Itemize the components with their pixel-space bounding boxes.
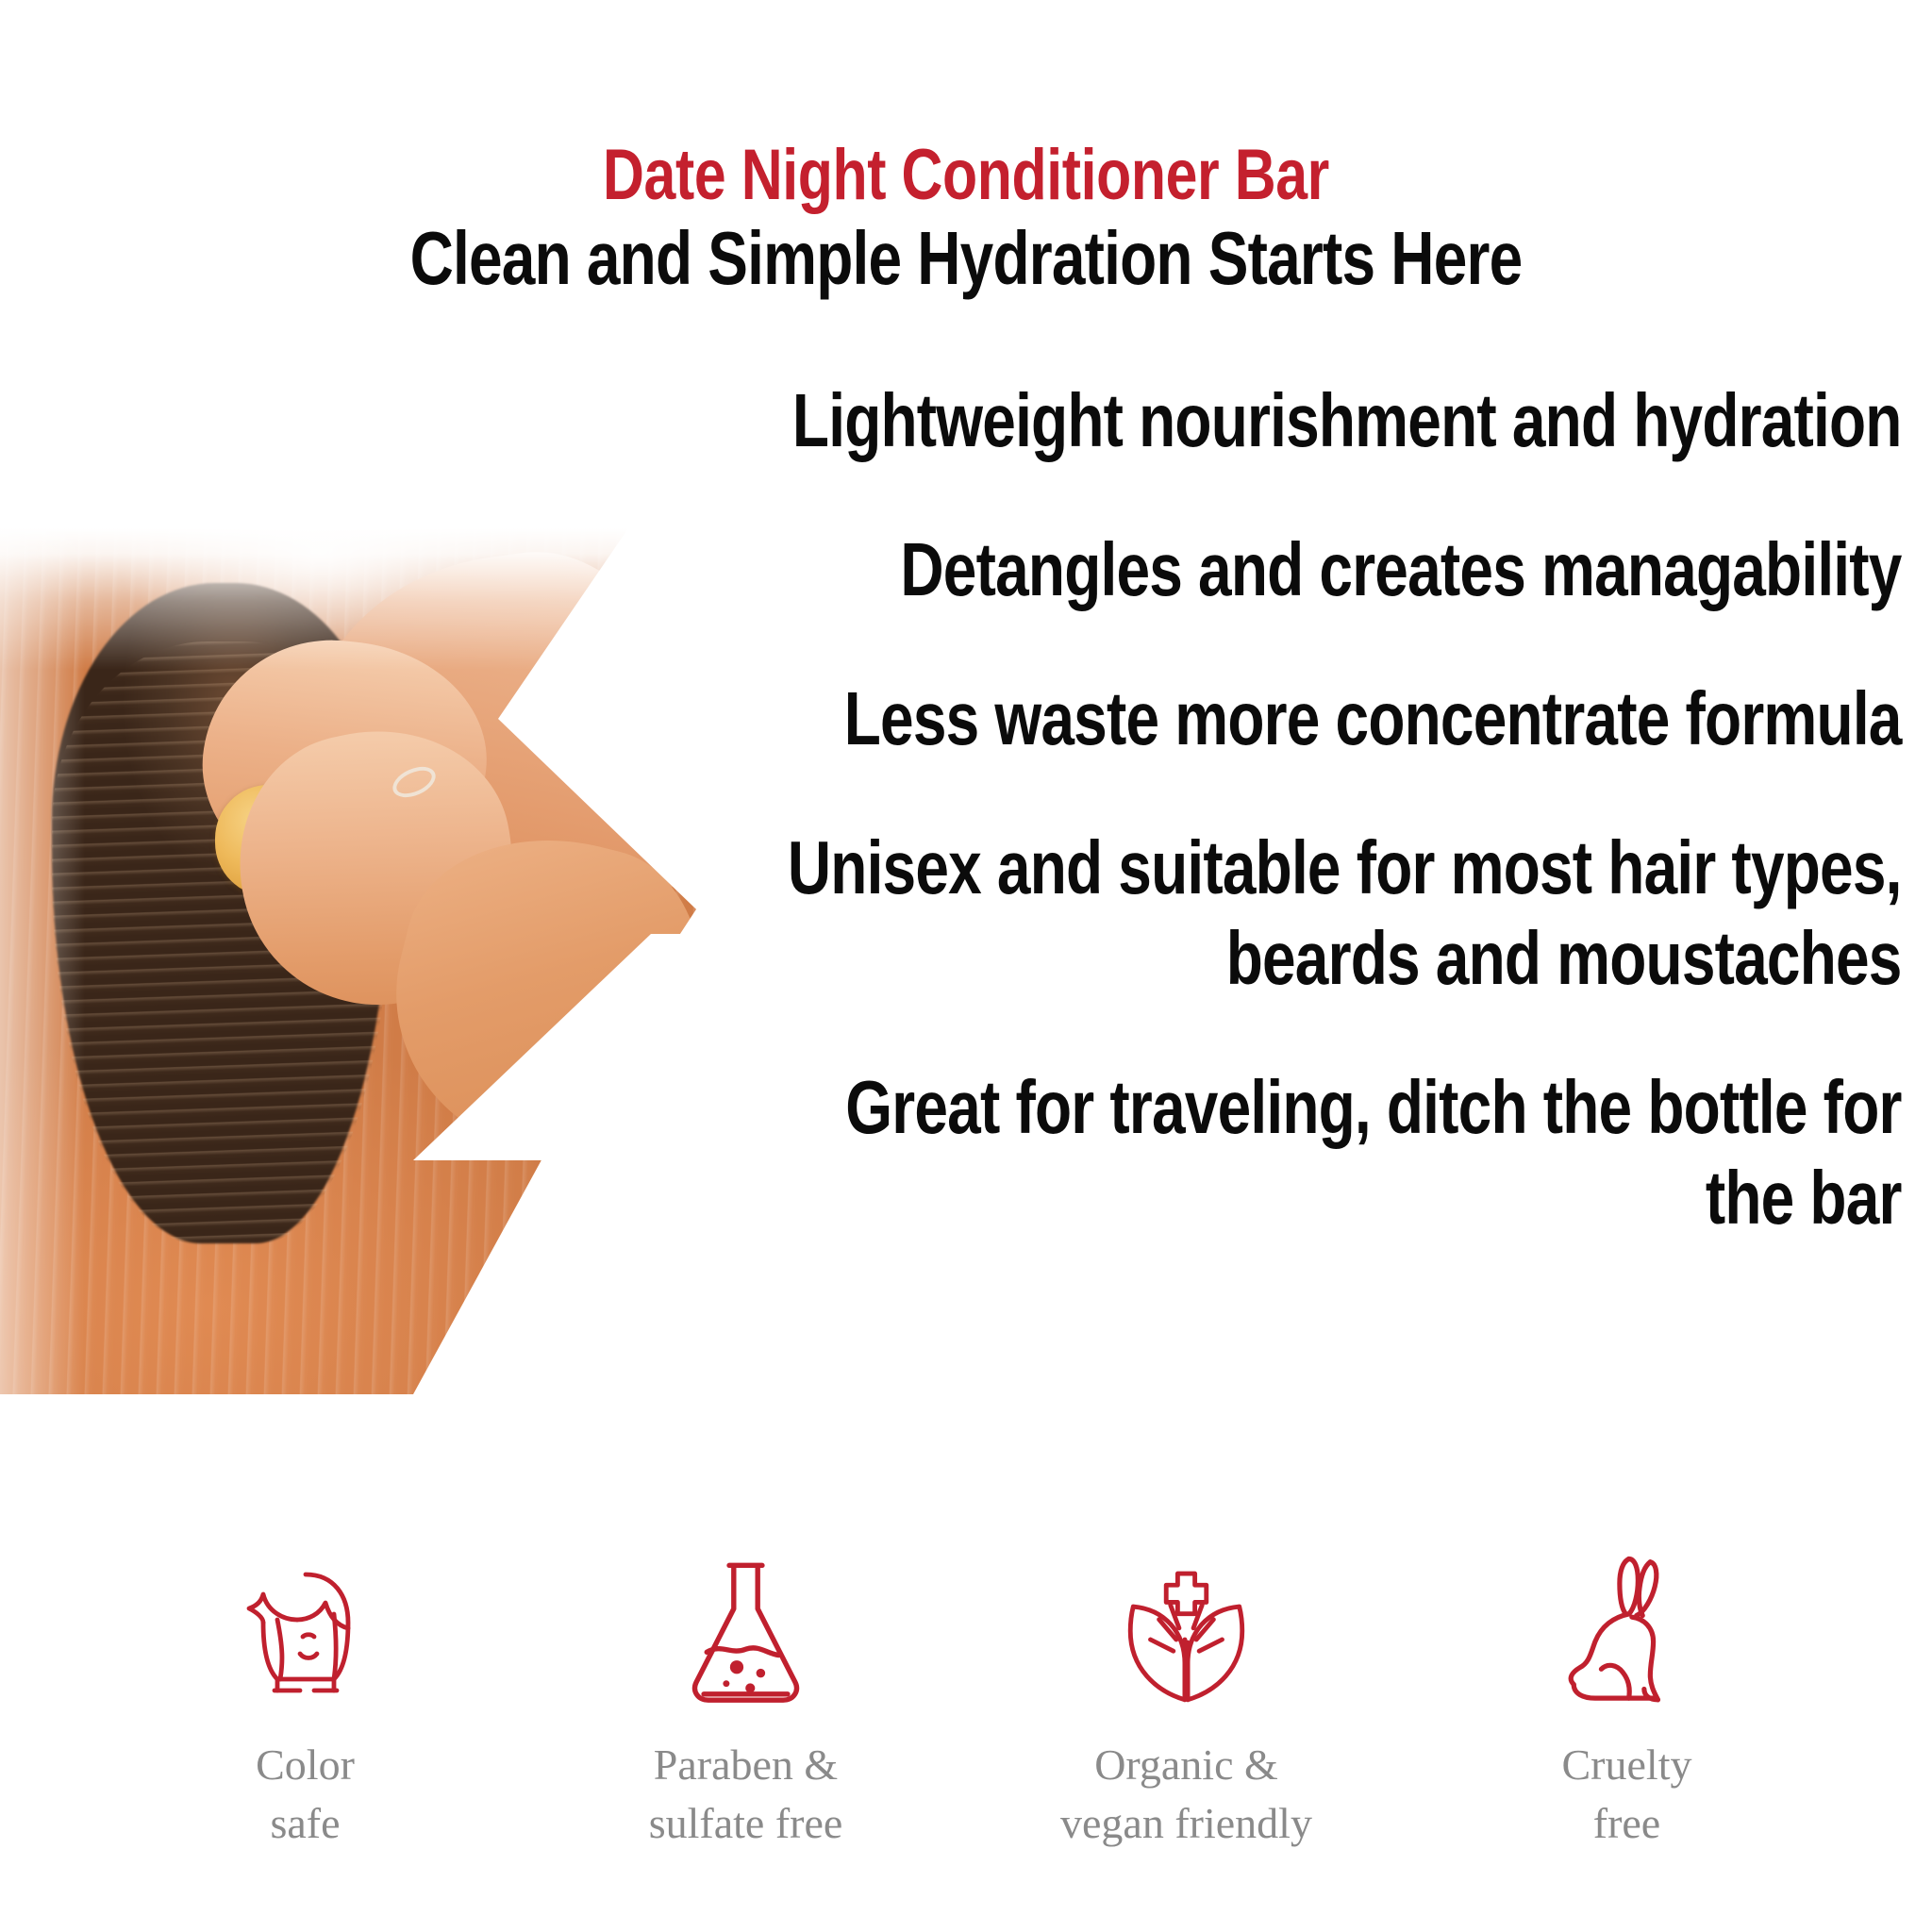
- infographic-canvas: Date Night Conditioner Bar Clean and Sim…: [0, 0, 1932, 1932]
- page-subtitle: Clean and Simple Hydration Starts Here: [193, 215, 1739, 302]
- badge-label: Paraben & sulfate free: [649, 1736, 843, 1853]
- badge-paraben-sulfate-free: Paraben & sulfate free: [591, 1555, 902, 1853]
- benefit-list: Lightweight nourishment and hydration De…: [0, 375, 1915, 1296]
- benefit-item: Detangles and creates managability: [383, 525, 1915, 615]
- leaves-cross-icon: [1113, 1555, 1259, 1715]
- page-title: Date Night Conditioner Bar: [193, 134, 1739, 216]
- woman-face-icon: [235, 1555, 376, 1715]
- rabbit-icon: [1561, 1555, 1693, 1715]
- flask-icon: [682, 1555, 809, 1715]
- benefit-item: Lightweight nourishment and hydration: [383, 375, 1915, 466]
- badge-cruelty-free: Cruelty free: [1472, 1555, 1783, 1853]
- benefit-item: Great for traveling, ditch the bottle fo…: [383, 1062, 1915, 1243]
- certification-badges: Color safe Paraben & sulfate free: [0, 1555, 1932, 1853]
- badge-label: Color safe: [256, 1736, 355, 1853]
- benefit-item: Unisex and suitable for most hair types,…: [383, 823, 1915, 1004]
- badge-label: Cruelty free: [1562, 1736, 1692, 1853]
- benefit-item: Less waste more concentrate formula: [383, 674, 1915, 764]
- badge-label: Organic & vegan friendly: [1060, 1736, 1312, 1853]
- badge-organic-vegan: Organic & vegan friendly: [1031, 1555, 1342, 1853]
- badge-color-safe: Color safe: [150, 1555, 461, 1853]
